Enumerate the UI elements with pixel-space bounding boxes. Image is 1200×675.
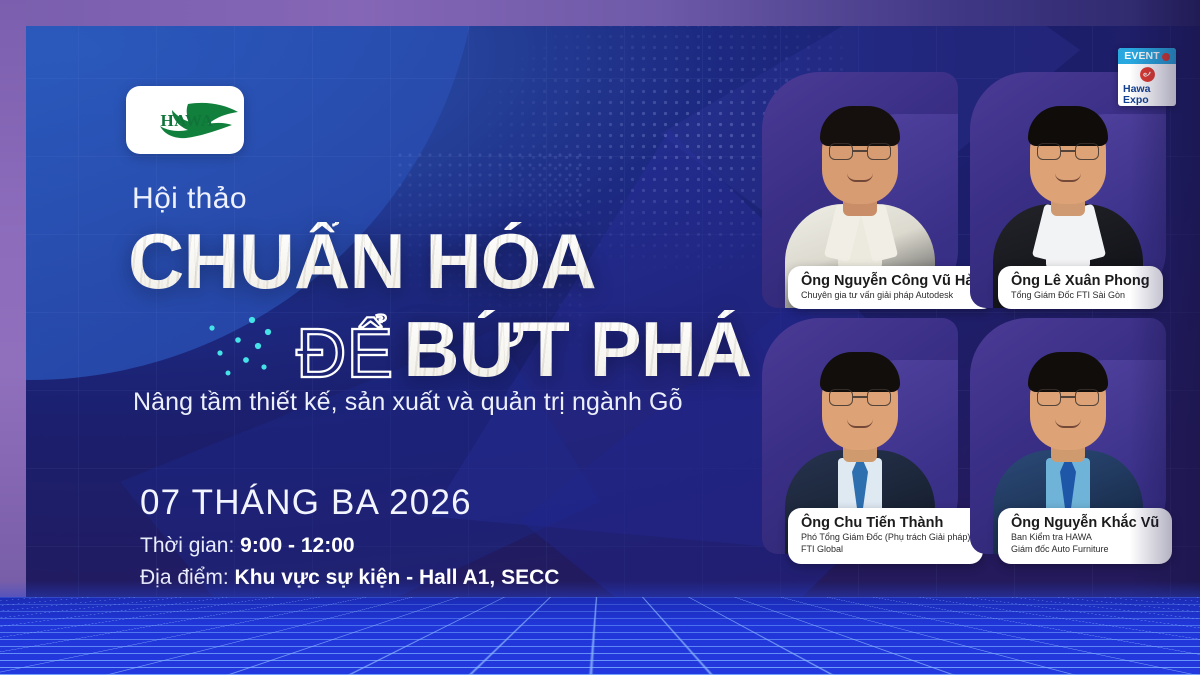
red-swirl-icon	[1139, 66, 1156, 83]
glasses-icon	[829, 143, 891, 160]
glasses-icon	[1037, 143, 1099, 160]
speaker-nameplate-2: Ông Lê Xuân Phong Tổng Giám Đốc FTI Sài …	[998, 266, 1163, 309]
page-title-row2: ĐỂ BỨT PHÁ	[128, 310, 751, 388]
speaker-role-4-line2: Giám đốc Auto Furniture	[1011, 544, 1159, 555]
speed-lines-icon	[128, 310, 288, 382]
speaker-nameplate-1: Ông Nguyễn Công Vũ Hảo Chuyên gia tư vấn…	[788, 266, 995, 309]
page-kicker: Hội thảo	[132, 182, 247, 216]
speaker-nameplate-4: Ông Nguyễn Khắc Vũ Ban Kiểm tra HAWA Giá…	[998, 508, 1172, 564]
speaker-role-4-line1: Ban Kiểm tra HAWA	[1011, 532, 1159, 543]
background-purple-top-band	[0, 0, 1200, 26]
speaker-role-3-line2: FTI Global	[801, 544, 970, 555]
speaker-role-2: Tổng Giám Đốc FTI Sài Gòn	[1011, 290, 1150, 301]
speaker-role-3-line1: Phó Tổng Giám Đốc (Phụ trách Giải pháp)	[801, 532, 970, 543]
hawa-logo-wordmark: HAWA	[160, 112, 213, 129]
hawa-logo: HAWA	[126, 86, 244, 154]
speaker-nameplate-3: Ông Chu Tiến Thành Phó Tổng Giám Đốc (Ph…	[788, 508, 983, 564]
expo-badge-header: EVENT	[1118, 48, 1176, 64]
glasses-icon	[1037, 389, 1099, 406]
background-purple-left-band	[0, 0, 26, 675]
event-date: 07 THÁNG BA 2026	[140, 483, 472, 523]
red-dot-icon	[1162, 53, 1170, 61]
page-tagline: Nâng tầm thiết kế, sản xuất và quản trị …	[133, 388, 683, 417]
glasses-icon	[829, 389, 891, 406]
expo-badge-body: Hawa Expo	[1118, 64, 1176, 106]
hawa-expo-badge: EVENT Hawa Expo	[1118, 48, 1176, 106]
event-time-label: Thời gian:	[140, 534, 234, 557]
event-time-value: 9:00 - 12:00	[240, 534, 354, 557]
page-title-connector: ĐỂ	[296, 318, 403, 388]
perspective-floor-grid	[0, 597, 1200, 675]
speaker-name-3: Ông Chu Tiến Thành	[801, 515, 970, 531]
page-title-line1: CHUẨN HÓA	[128, 222, 596, 300]
expo-name-line2: Expo	[1118, 95, 1176, 106]
event-poster: HAWA Hội thảo CHUẨN HÓA	[0, 0, 1200, 675]
page-title-line2: BỨT PHÁ	[403, 310, 751, 388]
speaker-name-2: Ông Lê Xuân Phong	[1011, 273, 1150, 289]
expo-name-line1: Hawa	[1118, 84, 1176, 95]
speaker-role-1: Chuyên gia tư vấn giải pháp Autodesk	[801, 290, 982, 301]
speaker-name-4: Ông Nguyễn Khắc Vũ	[1011, 515, 1159, 531]
event-time: Thời gian: 9:00 - 12:00	[140, 534, 355, 558]
speaker-name-1: Ông Nguyễn Công Vũ Hảo	[801, 273, 982, 289]
expo-event-label: EVENT	[1124, 51, 1160, 62]
